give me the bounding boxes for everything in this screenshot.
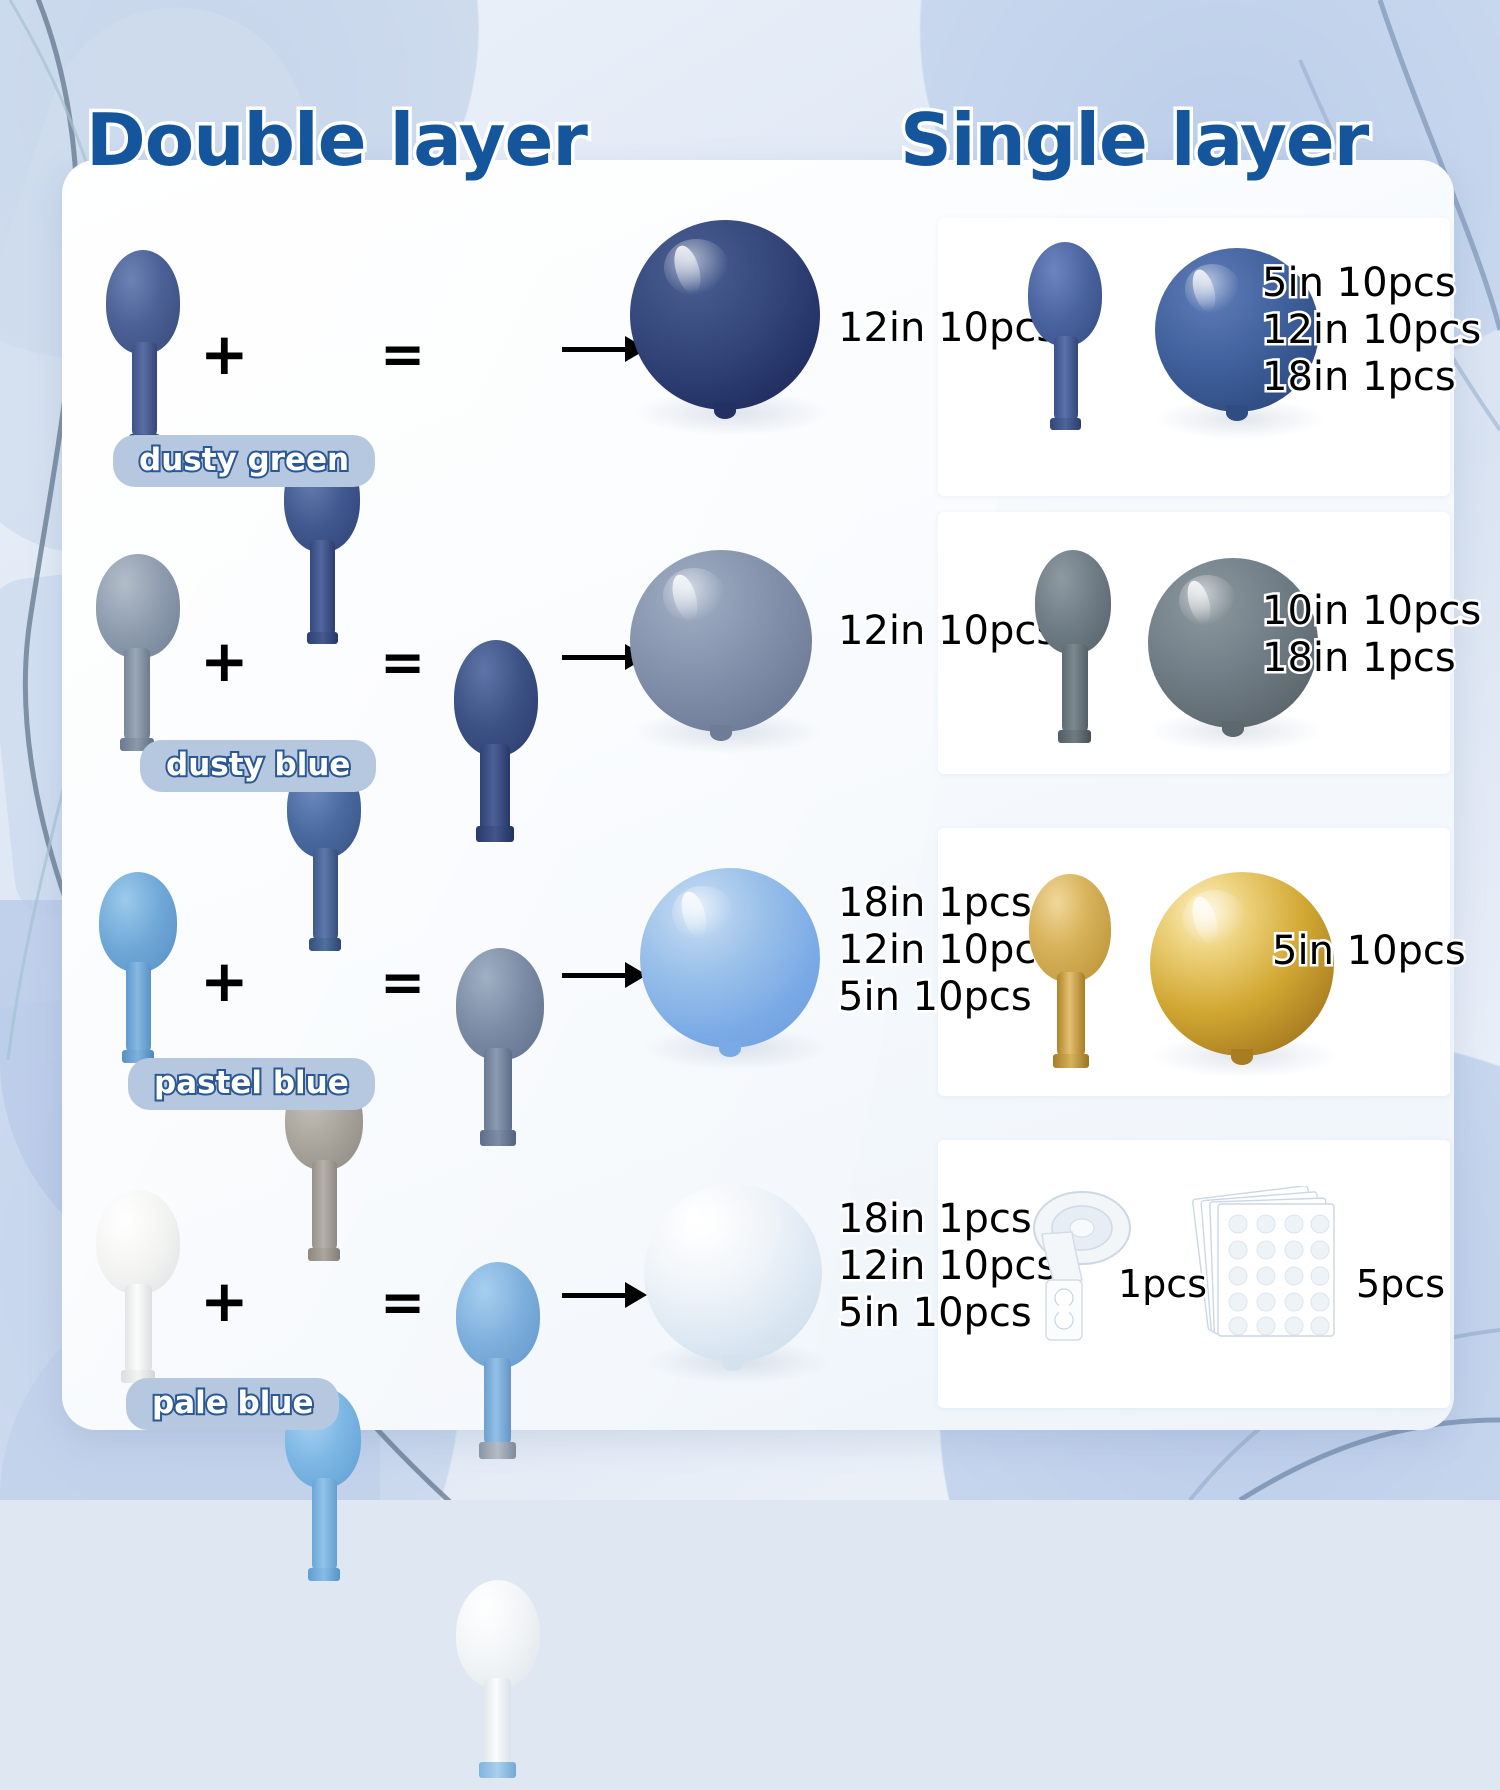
color-label-pale-blue: pale blue [126, 1378, 339, 1430]
page-title-double-layer: Double layer [86, 98, 587, 182]
single-group-navy: 5in 10pcs 12in 10pcs 18in 1pcs [0, 230, 1392, 420]
color-label-pastel-blue: pastel blue [128, 1058, 375, 1110]
single-group-gold: 5in 10pcs [0, 860, 1392, 1056]
color-label-dusty-green: dusty green [113, 435, 375, 487]
single-deflated-balloon [1022, 242, 1106, 432]
spec-list: 10in 10pcs 18in 1pcs [1262, 588, 1481, 682]
inflated-balloon [644, 1184, 822, 1362]
headings-row: Double layer Single layer [0, 50, 1500, 160]
single-deflated-balloon [1030, 550, 1116, 746]
deflated-balloon-a [92, 1190, 184, 1386]
spec-list: 5in 10pcs 12in 10pcs 18in 1pcs [1262, 260, 1481, 402]
spec-list: 5in 10pcs [1272, 928, 1466, 975]
glue-dot-sheets-icon [1190, 1186, 1350, 1356]
combined-balloon [452, 1580, 544, 1790]
tape-qty: 1pcs [1118, 1262, 1207, 1307]
plus-operator: + [200, 1272, 249, 1330]
equals-operator: = [380, 1276, 425, 1330]
single-group-slate: 10in 10pcs 18in 1pcs [0, 540, 1392, 736]
arrow-right-icon [562, 1280, 647, 1310]
single-deflated-balloon [1024, 874, 1116, 1070]
page-title-single-layer: Single layer [900, 98, 1368, 182]
glue-dots-qty: 5pcs [1356, 1262, 1445, 1307]
color-label-dusty-blue: dusty blue [140, 740, 376, 792]
spec-list: 18in 1pcs 12in 10pcs 5in 10pcs [838, 1196, 1057, 1338]
